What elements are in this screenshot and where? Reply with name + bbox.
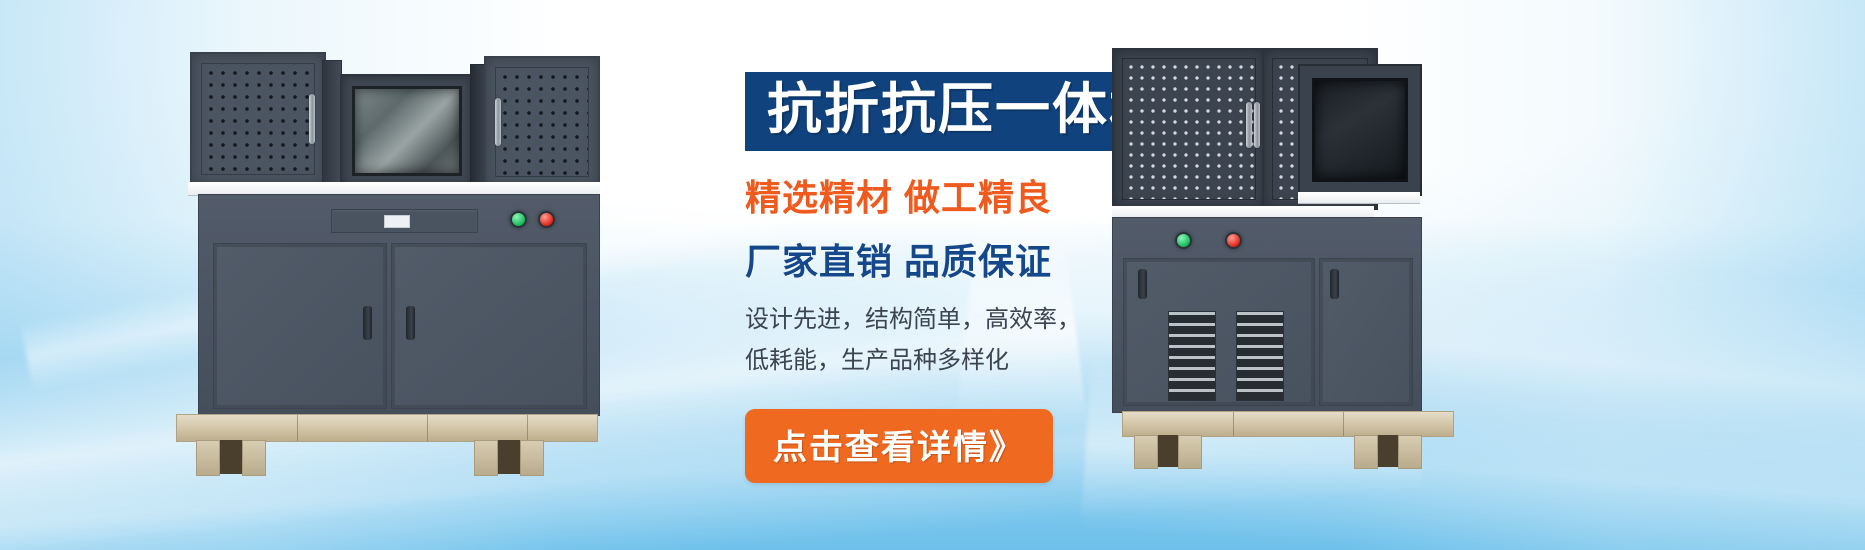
product-image-right (1112, 48, 1472, 438)
cabinet-door-right (1319, 258, 1413, 406)
pallet-leg (474, 440, 498, 476)
power-off-indicator-light (538, 211, 555, 228)
cabinet-door-right (391, 243, 587, 409)
pallet-seam (1343, 412, 1344, 436)
door-handle (1138, 269, 1147, 299)
left-cabinet-side-face (322, 60, 342, 184)
control-monitor (340, 74, 474, 188)
pallet-leg (1354, 435, 1378, 469)
cabinet-handle (309, 94, 315, 144)
monitor-screen (352, 86, 462, 176)
ventilation-louvers-right (1236, 311, 1284, 401)
door-handle (406, 306, 415, 340)
pallet-leg (1134, 435, 1158, 469)
pallet-seam (427, 415, 428, 441)
cabinet-door-left (213, 243, 387, 409)
control-monitor (1298, 64, 1422, 196)
cabinet-door-vented (1123, 258, 1315, 406)
pallet-leg (520, 440, 544, 476)
power-on-indicator-light (1175, 232, 1192, 249)
wooden-pallet (176, 414, 598, 442)
monitor-screen (1312, 78, 1408, 182)
pallet-seam (527, 415, 528, 441)
cabinet-handle (495, 98, 501, 146)
perforation-pattern (1122, 58, 1256, 200)
cabinet-door-handle-right (1254, 102, 1260, 148)
pallet-leg (1398, 435, 1422, 469)
pallet-gap (216, 440, 244, 474)
product-image-left (168, 52, 568, 432)
promo-banner: 抗折抗压一体机 精选精材 做工精良 厂家直销 品质保证 设计先进，结构简单，高效… (0, 0, 1865, 550)
upper-perforated-cabinet (1112, 48, 1266, 210)
wooden-pallet (1122, 411, 1454, 437)
view-details-button[interactable]: 点击查看详情》 (745, 409, 1053, 483)
page-title: 抗折抗压一体机 (767, 81, 1166, 139)
perforation-pattern (201, 63, 315, 175)
side-white-trim (1298, 192, 1420, 204)
pallet-gap (494, 440, 522, 474)
left-perforated-cabinet (190, 52, 326, 186)
pallet-seam (1233, 412, 1234, 436)
control-drawer (331, 209, 478, 233)
pallet-leg (196, 440, 220, 476)
machine-body (198, 194, 600, 416)
ventilation-louvers-left (1168, 311, 1216, 401)
door-handle (1330, 269, 1339, 299)
pallet-leg (1178, 435, 1202, 469)
machine-body (1112, 217, 1422, 413)
power-off-indicator-light (1225, 232, 1242, 249)
perforation-pattern (495, 67, 589, 177)
right-perforated-cabinet (484, 56, 600, 188)
pallet-seam (297, 415, 298, 441)
door-handle (363, 306, 372, 340)
cabinet-door-handle-left (1246, 102, 1252, 148)
pallet-leg (242, 440, 266, 476)
power-on-indicator-light (510, 211, 527, 228)
drawer-nameplate (384, 215, 410, 228)
